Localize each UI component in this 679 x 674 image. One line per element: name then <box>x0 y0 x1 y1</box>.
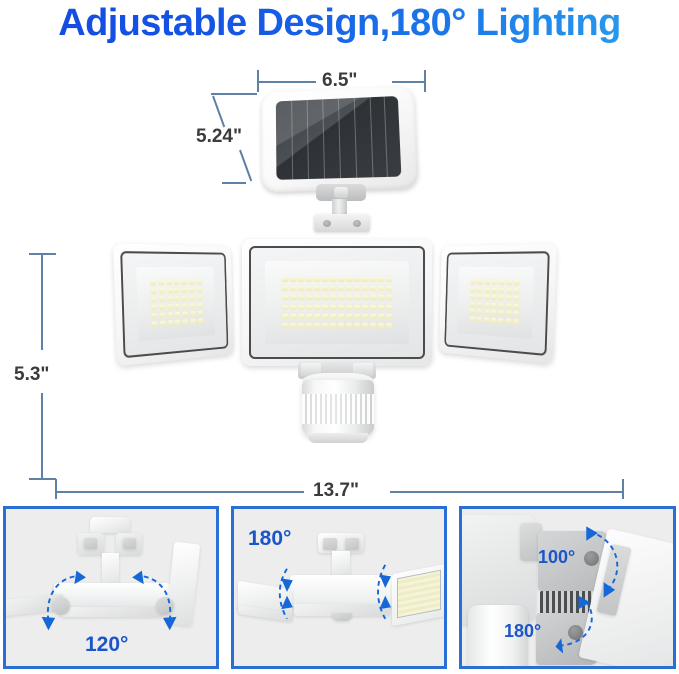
dimension-tick-bottom-left-horizontal <box>222 182 246 184</box>
dimension-tick-fixture-width-right <box>622 479 624 499</box>
led-array-left <box>136 267 215 341</box>
head-rim <box>120 251 228 358</box>
head-cavity <box>457 267 534 339</box>
dimension-tick-fixture-bottom <box>29 478 56 480</box>
feature-panels: 120° 180° <box>0 506 679 674</box>
head-rim <box>249 246 425 359</box>
dimension-label-fixture-height: 5.3" <box>14 364 49 386</box>
solar-panel-mount-foot <box>314 214 370 232</box>
panel-side-heads-rotation: 180° <box>231 506 447 669</box>
panel-head-tilt: 120° <box>3 506 219 669</box>
dimension-line-height-panel-upper <box>212 96 225 128</box>
motion-sensor <box>302 380 374 436</box>
solar-panel-assembly <box>252 88 430 228</box>
right-led-head <box>439 244 557 365</box>
panel-mount-rotation: 100° 180° <box>459 506 676 669</box>
rotation-arrows-100-180 <box>462 509 673 666</box>
infographic-canvas: Adjustable Design,180° Lighting 6.5" 5.2… <box>0 0 679 674</box>
led-array-center <box>265 261 409 344</box>
left-led-head <box>113 243 234 366</box>
page-title: Adjustable Design,180° Lighting <box>0 2 679 45</box>
dimension-tick-top-left-horizontal <box>211 93 257 95</box>
sensor-fresnel-lens <box>302 394 374 424</box>
head-cavity <box>265 261 409 344</box>
dimension-line-fixture-height-lower <box>41 393 43 479</box>
dimension-line-height-panel-lower <box>239 150 252 182</box>
rotation-arrows-180 <box>234 509 444 666</box>
dimension-label-fixture-width: 13.7" <box>313 480 359 502</box>
dimension-line-width-top-right <box>392 81 425 83</box>
mount-bolt-right <box>353 220 361 227</box>
head-rim <box>444 251 549 356</box>
led-array-right <box>457 267 534 339</box>
dimension-line-fixture-width-right <box>390 491 624 493</box>
mount-bolt-left <box>323 220 331 227</box>
dimension-line-fixture-width-left <box>56 491 304 493</box>
head-cavity <box>136 267 215 341</box>
angle-label-180-mount: 180° <box>504 621 541 642</box>
angle-label-100: 100° <box>538 547 575 568</box>
dimension-line-fixture-height-upper <box>41 254 43 350</box>
center-led-head <box>242 239 432 366</box>
dimension-line-width-top <box>258 81 316 83</box>
dimension-label-panel-height: 5.24" <box>196 126 242 148</box>
solar-panel-bezel <box>262 85 419 192</box>
dimension-tick-fixture-width-left <box>55 479 57 499</box>
motion-sensor-base <box>308 433 368 443</box>
light-fixture <box>110 235 560 450</box>
solar-cells <box>276 96 402 180</box>
angle-label-120: 120° <box>85 633 128 657</box>
